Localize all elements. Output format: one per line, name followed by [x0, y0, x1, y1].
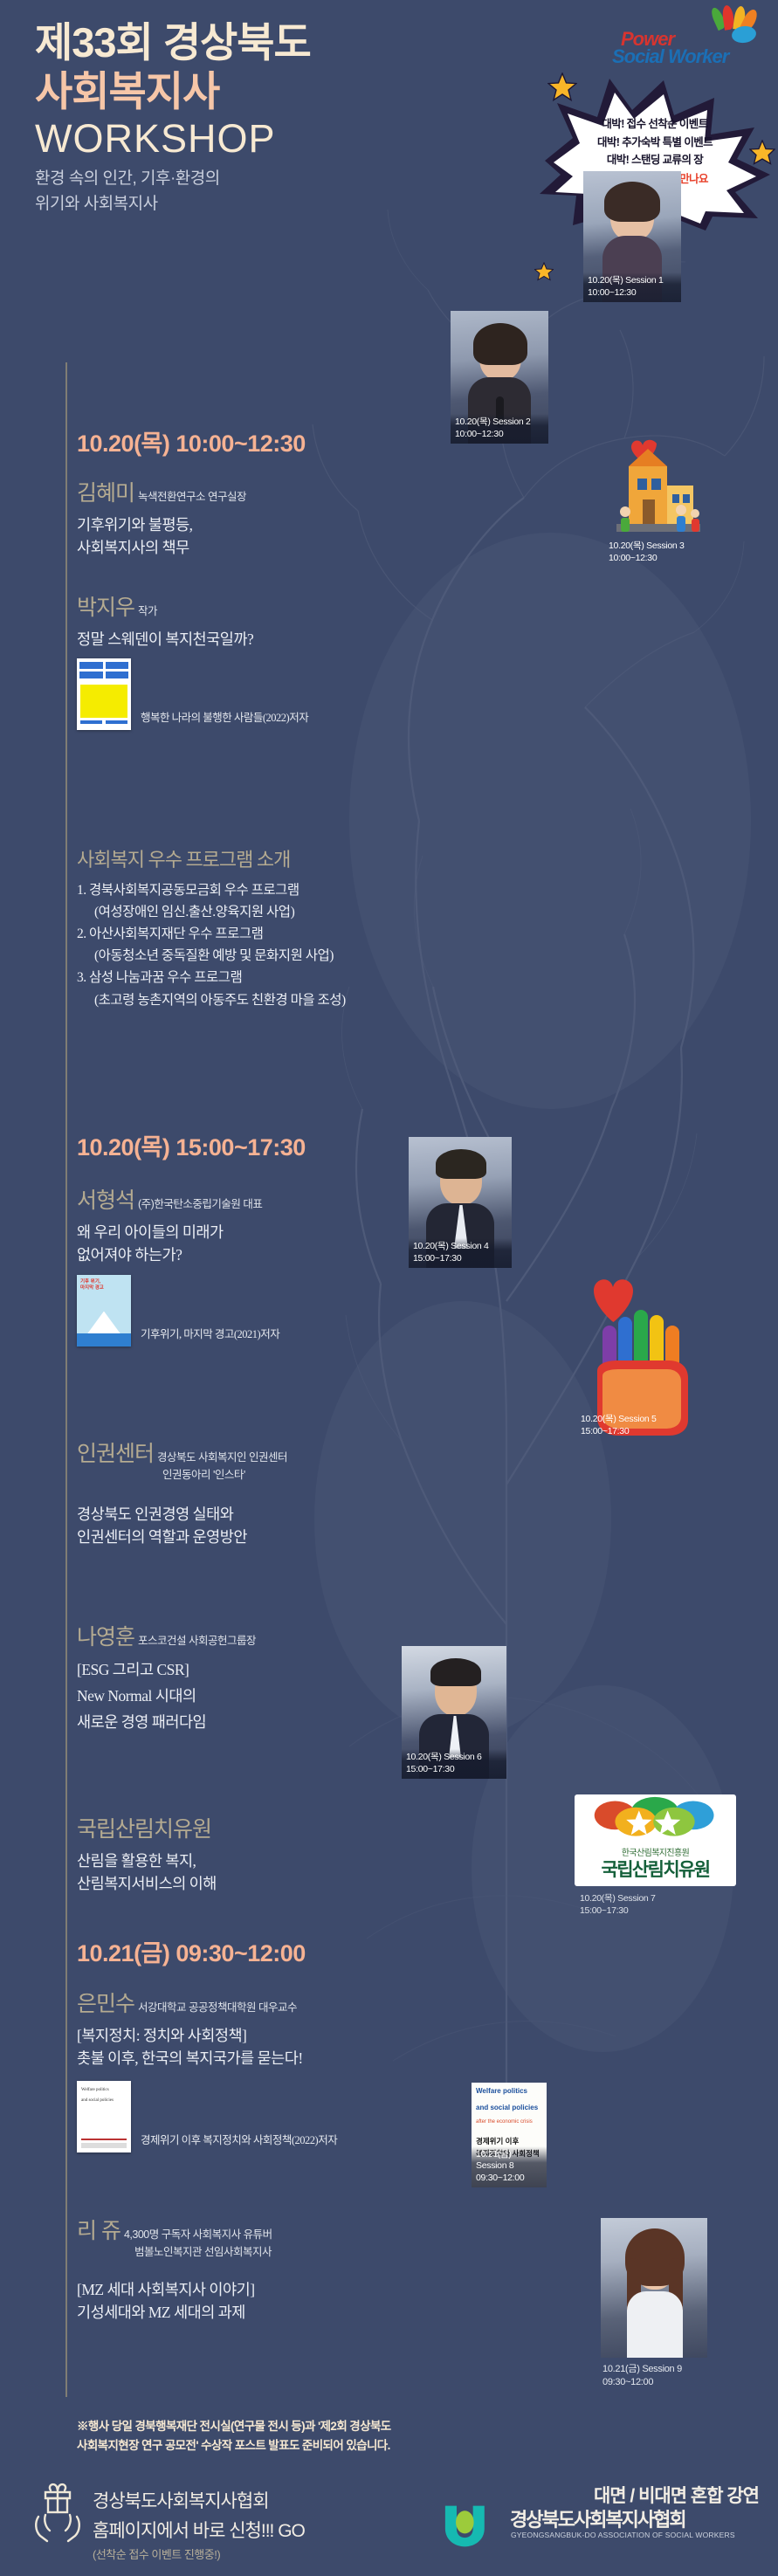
- label-line-1: 10.20(목) Session 4: [413, 1241, 507, 1252]
- speaker-topic: 산림을 활용한 복지, 산림복지서비스의 이해: [77, 1849, 452, 1896]
- speaker-block-kim-hyemi: 김혜미녹색전환연구소 연구실장 기후위기와 불평등, 사회복지사의 책무: [77, 476, 452, 560]
- speaker-photo-session-1: 10.20(목) Session 1 10:00~12:30: [583, 171, 681, 302]
- label-line-2: 10:00~12:30: [609, 553, 705, 564]
- speaker-heading: 인권센터경상북도 사회복지인 인권센터 인권동아리 '인스타': [77, 1436, 452, 1482]
- burst-line-2: 대박! 추가숙박 특별 이벤트: [534, 134, 775, 152]
- speaker-block-na-younghoon: 나영훈포스코건설 사회공헌그룹장 [ESG 그리고 CSR] New Norma…: [77, 1620, 452, 1735]
- note-line-2: 사회복지현장 연구 공모전' 수상작 포스트 발표도 준비되어 있습니다.: [77, 2436, 548, 2455]
- speaker-topic: [복지정치: 정치와 사회정책] 촛불 이후, 한국의 복지국가를 묻는다!: [77, 2024, 487, 2070]
- speaker-photo-session-2: 10.20(목) Session 2 10:00~12:30: [451, 311, 548, 444]
- label-line-1: 10.20(목) Session 7: [580, 1893, 656, 1905]
- label-line-2: 15:00~17:30: [413, 1253, 507, 1264]
- speaker-affiliation: (주)한국탄소중립기술원 대표: [138, 1198, 262, 1210]
- photo-session-label-7: 10.20(목) Session 7 15:00~17:30: [580, 1893, 656, 1917]
- photo-session-label: 10.20(목) Session 4 15:00~17:30: [409, 1238, 512, 1268]
- program-list: 1. 경북사회복지공동모금회 우수 프로그램 (여성장애인 임신.출산.양육지원…: [77, 879, 470, 1011]
- speaker-name: 인권센터: [77, 1442, 154, 1466]
- label-line-2: 15:00~17:30: [580, 1905, 656, 1918]
- book-title-b: and social policies: [81, 2098, 127, 2104]
- program-item: 2. 아산사회복지재단 우수 프로그램: [77, 923, 470, 945]
- page-title-line3: WORKSHOP: [35, 116, 276, 162]
- label-line-1: 10.20(목) Session 1: [588, 275, 677, 286]
- speaker-name: 서형석: [77, 1188, 134, 1213]
- gift-hands-icon: [31, 2478, 84, 2545]
- book-title-a: Welfare politics: [81, 2088, 127, 2094]
- speaker-affiliation-2: 인권동아리 '인스타': [162, 1465, 452, 1482]
- label-line-2: 09:30~12:00: [602, 2376, 682, 2389]
- topic-line-3: 새로운 경영 패러다임: [77, 1710, 452, 1736]
- book2-title-b: and social policies: [476, 2104, 542, 2112]
- speaker-heading: 박지우작가: [77, 590, 452, 622]
- note-line-1: ※행사 당일 경북행복재단 전시실(연구물 전시 등)과 '제2회 경상북도: [77, 2417, 548, 2436]
- association-cta[interactable]: 경상북도사회복지사협회 홈페이지에서 바로 신청!!! GO (선착순 접수 이…: [93, 2487, 305, 2562]
- speaker-name: 박지우: [77, 596, 134, 620]
- speaker-heading: 김혜미녹색전환연구소 연구실장: [77, 476, 452, 507]
- book-cover-climate-warning: 기후 위기,마지막 경고: [77, 1275, 131, 1347]
- label-line-2: 09:30~12:00: [476, 2173, 542, 2184]
- photo-session-label-9: 10.21(금) Session 9 09:30~12:00: [602, 2363, 682, 2389]
- topic-line-1: [ESG 그리고 CSR]: [77, 1657, 452, 1684]
- speaker-topic: 경상북도 인권경영 실태와 인권센터의 역할과 운영방안: [77, 1503, 452, 1549]
- speaker-affiliation: 작가: [138, 605, 157, 617]
- event-note: ※행사 당일 경북행복재단 전시실(연구물 전시 등)과 '제2회 경상북도 사…: [77, 2417, 548, 2455]
- speaker-topic: [ESG 그리고 CSR] New Normal 시대의 새로운 경영 패러다임: [77, 1657, 452, 1735]
- book-row: Welfare politics and social policies 경제위…: [77, 2081, 487, 2152]
- topic-line-2: 인권센터의 역할과 운영방안: [77, 1526, 452, 1548]
- power-social-worker-logo: Power Social Worker: [607, 5, 773, 72]
- topic-line-2: New Normal 시대의: [77, 1684, 452, 1710]
- subtitle-line1: 환경 속의 인간, 기후·환경의: [35, 166, 220, 191]
- apply-cta-text[interactable]: 홈페이지에서 바로 신청!!! GO: [93, 2517, 305, 2543]
- speaker-photo-session-9: [601, 2218, 707, 2358]
- speaker-affiliation-2: 범볼노인복지관 선임사회복지사: [134, 2242, 487, 2259]
- program-intro-block: 사회복지 우수 프로그램 소개 1. 경북사회복지공동모금회 우수 프로그램 (…: [77, 844, 470, 1011]
- label-line-1: 10.20(목) Session 5: [581, 1414, 703, 1425]
- subtitle-line2: 위기와 사회복지사: [35, 191, 220, 217]
- association-name: 경상북도사회복지사협회: [93, 2487, 305, 2513]
- topic-line-2: 촛불 이후, 한국의 복지국가를 묻는다!: [77, 2047, 487, 2070]
- speaker-photo-session-6: 10.20(목) Session 6 15:00~17:30: [402, 1646, 506, 1779]
- page-title-line2: 사회복지사: [35, 68, 219, 115]
- star-icon-4: [534, 262, 554, 281]
- book-row: 기후 위기,마지막 경고 기후위기, 마지막 경고(2021)저자: [77, 1275, 452, 1347]
- org-name-en: GYEONGSANGBUK-DO ASSOCIATION OF SOCIAL W…: [511, 2531, 735, 2539]
- book2-title-a: Welfare politics: [476, 2087, 542, 2096]
- speaker-block-forest-healing-center: 국립산림치유원 산림을 활용한 복지, 산림복지서비스의 이해: [77, 1812, 452, 1896]
- speaker-topic: [MZ 세대 사회복지사 이야기] 기성세대와 MZ 세대의 과제: [77, 2278, 487, 2325]
- page-subtitle: 환경 속의 인간, 기후·환경의 위기와 사회복지사: [35, 166, 220, 217]
- photo-session-label: 10.20(목) Session 3 10:00~12:30: [604, 538, 709, 568]
- speaker-affiliation: 서강대학교 공공정책대학원 대우교수: [138, 2001, 297, 2014]
- photo-session-label: 10.20(목) Session 5 15:00~17:30: [576, 1411, 707, 1441]
- session-datetime-morning: 10.20(목) 10:00~12:30: [77, 424, 306, 458]
- label-line-1: 10.21(금) Session 8: [476, 2149, 542, 2173]
- speaker-heading: 국립산림치유원: [77, 1812, 452, 1843]
- burst-line-3: 대박! 스탠딩 교류의 장: [534, 151, 775, 169]
- speaker-block-eun-minsu: 은민수서강대학교 공공정책대학원 대우교수 [복지정치: 정치와 사회정책] 촛…: [77, 1987, 487, 2152]
- left-timeline-rule: [65, 362, 67, 2397]
- speaker-photo-session-4: 10.20(목) Session 4 15:00~17:30: [409, 1137, 512, 1268]
- org-name-kr: 경상북도사회복지사협회: [510, 2504, 685, 2532]
- forest-healing-center-logo: 한국산림복지진흥원 국립산림치유원: [575, 1794, 736, 1886]
- program-item-sub: (초고령 농촌지역의 아동주도 친환경 마을 조성): [77, 989, 470, 1011]
- speaker-affiliation: 4,300명 구독자 사회복지사 유튜버: [124, 2228, 272, 2241]
- label-line-2: 15:00~17:30: [406, 1764, 502, 1775]
- session-datetime-afternoon: 10.20(목) 15:00~17:30: [77, 1128, 306, 1162]
- speaker-heading: 리 쥬4,300명 구독자 사회복지사 유튜버 범볼노인복지관 선임사회복지사: [77, 2214, 487, 2259]
- program-item: 1. 경북사회복지공동모금회 우수 프로그램: [77, 879, 470, 901]
- star-icon-1: [547, 72, 577, 102]
- session-datetime-day2: 10.21(금) 09:30~12:00: [77, 1934, 306, 1968]
- speaker-block-park-jiwoo: 박지우작가 정말 스웨덴이 복지천국일까? 행복한: [77, 590, 452, 730]
- photo-session-label: 10.20(목) Session 2 10:00~12:30: [451, 414, 548, 444]
- book-caption: 경제위기 이후 복지정치와 사회정책(2022)저자: [141, 2131, 337, 2152]
- topic-line-1: 왜 우리 아이들의 미래가: [77, 1221, 452, 1243]
- speaker-affiliation: 녹색전환연구소 연구실장: [138, 491, 246, 503]
- program-item-sub: (여성장애인 임신.출산.양육지원 사업): [77, 901, 470, 923]
- apply-cta-note: (선착순 접수 이벤트 진행중!): [93, 2545, 305, 2562]
- speaker-name: 나영훈: [77, 1625, 134, 1650]
- book2-title-d: 경제위기 이후: [476, 2137, 542, 2146]
- topic-line-1: 경상북도 인권경영 실태와: [77, 1503, 452, 1526]
- book-cover-welfare-politics-1: Welfare politics and social policies: [77, 2081, 131, 2152]
- speaker-block-seo-hyeongseok: 서형석(주)한국탄소중립기술원 대표 왜 우리 아이들의 미래가 없어져야 하는…: [77, 1183, 452, 1347]
- poster-root: 제33회 경상북도 사회복지사 WORKSHOP 환경 속의 인간, 기후·환경…: [0, 0, 778, 2576]
- topic-line-2: 기성세대와 MZ 세대의 과제: [77, 2301, 487, 2324]
- book-caption: 기후위기, 마지막 경고(2021)저자: [141, 1325, 279, 1347]
- label-line-1: 10.21(금) Session 9: [602, 2363, 682, 2376]
- program-item-sub: (아동청소년 중독질환 예방 및 문화지원 사업): [77, 945, 470, 967]
- topic-line-2: 없어져야 하는가?: [77, 1243, 452, 1266]
- topic-line-1: [복지정치: 정치와 사회정책]: [77, 2024, 487, 2047]
- topic-line-2: 산림복지서비스의 이해: [77, 1872, 452, 1895]
- burst-line-1: 대박! 접수 선착순 이벤트: [534, 115, 775, 134]
- human-rights-illustration-session-5: 10.20(목) Session 5 15:00~17:30: [576, 1249, 707, 1441]
- speaker-affiliation: 경상북도 사회복지인 인권센터: [157, 1451, 287, 1464]
- program-item: 3. 삼성 나눔과꿈 우수 프로그램: [77, 967, 470, 988]
- star-icon-2: [749, 140, 775, 166]
- speaker-block-human-rights-center: 인권센터경상북도 사회복지인 인권센터 인권동아리 '인스타' 경상북도 인권경…: [77, 1436, 452, 1549]
- speaker-name: 리 쥬: [77, 2219, 120, 2243]
- label-line-2: 10:00~12:30: [455, 429, 544, 440]
- speaker-name: 국립산림치유원: [77, 1817, 211, 1842]
- speaker-name: 김혜미: [77, 481, 134, 506]
- photo-session-label: 10.20(목) Session 1 10:00~12:30: [583, 272, 681, 302]
- section-heading: 사회복지 우수 프로그램 소개: [77, 844, 470, 872]
- label-line-1: 10.20(목) Session 2: [455, 417, 544, 428]
- speaker-heading: 서형석(주)한국탄소중립기술원 대표: [77, 1183, 452, 1215]
- label-line-1: 10.20(목) Session 6: [406, 1752, 502, 1763]
- topic-line-1: [MZ 세대 사회복지사 이야기]: [77, 2278, 487, 2301]
- speaker-topic: 왜 우리 아이들의 미래가 없어져야 하는가?: [77, 1221, 452, 1267]
- book-cover-happy-country: [77, 658, 131, 730]
- label-line-1: 10.20(목) Session 3: [609, 541, 705, 552]
- photo-session-label: 10.21(금) Session 8 09:30~12:00: [472, 2146, 547, 2187]
- speaker-block-ri-ju: 리 쥬4,300명 구독자 사회복지사 유튜버 범볼노인복지관 선임사회복지사 …: [77, 2214, 487, 2325]
- topic-line-1: 산림을 활용한 복지,: [77, 1849, 452, 1872]
- speaker-heading: 나영훈포스코건설 사회공헌그룹장: [77, 1620, 452, 1651]
- speaker-topic: 정말 스웨덴이 복지천국일까?: [77, 628, 452, 651]
- label-line-2: 15:00~17:30: [581, 1426, 703, 1437]
- book2-title-c: after the economic crisis: [476, 2119, 542, 2125]
- program-illustration-session-3: 10.20(목) Session 3 10:00~12:30: [604, 437, 709, 568]
- topic-line-1: 기후위기와 불평등,: [77, 513, 452, 536]
- speaker-heading: 은민수서강대학교 공공정책대학원 대우교수: [77, 1987, 487, 2018]
- speaker-name: 은민수: [77, 1992, 134, 2016]
- forest-logo-title: 국립산림치유원: [575, 1856, 736, 1882]
- book-cover-welfare-politics-2: Welfare politics and social policies aft…: [472, 2083, 547, 2187]
- photo-session-label: 10.20(목) Session 6 15:00~17:30: [402, 1749, 506, 1779]
- book-caption: 행복한 나라의 불행한 사람들(2022)저자: [141, 708, 308, 730]
- gyeongsangbuk-association-logo: 경상북도사회복지사협회 GYEONGSANGBUK-DO ASSOCIATION…: [435, 2499, 775, 2553]
- page-title-line1: 제33회 경상북도: [35, 19, 311, 66]
- book-row: 행복한 나라의 불행한 사람들(2022)저자: [77, 658, 452, 730]
- topic-line-2: 사회복지사의 책무: [77, 536, 452, 559]
- topic-line-1: 정말 스웨덴이 복지천국일까?: [77, 628, 452, 651]
- speaker-topic: 기후위기와 불평등, 사회복지사의 책무: [77, 513, 452, 560]
- speaker-affiliation: 포스코건설 사회공헌그룹장: [138, 1635, 256, 1647]
- label-line-2: 10:00~12:30: [588, 287, 677, 299]
